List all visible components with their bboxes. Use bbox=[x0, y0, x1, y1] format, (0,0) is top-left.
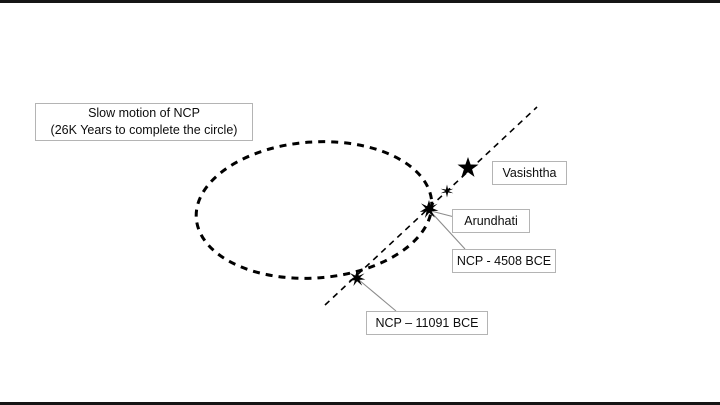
label-ncp-11091-bce: NCP – 11091 BCE bbox=[366, 311, 488, 335]
label-vasishtha-text: Vasishtha bbox=[503, 165, 557, 182]
vasishtha-star-icon bbox=[458, 157, 479, 177]
label-arundhati: Arundhati bbox=[452, 209, 530, 233]
arundhati-star-icon bbox=[441, 185, 454, 198]
precession-circle bbox=[192, 134, 437, 286]
precession-ellipse-group bbox=[192, 134, 437, 286]
label-slow-motion-line2: (26K Years to complete the circle) bbox=[51, 122, 238, 139]
label-ncp-11091-text: NCP – 11091 BCE bbox=[375, 315, 478, 332]
leader-line-ncp-11091 bbox=[359, 280, 396, 311]
label-slow-motion-of-ncp: Slow motion of NCP (26K Years to complet… bbox=[35, 103, 253, 141]
label-vasishtha: Vasishtha bbox=[492, 161, 567, 185]
label-ncp-4508-bce: NCP - 4508 BCE bbox=[452, 249, 556, 273]
label-slow-motion-line1: Slow motion of NCP bbox=[88, 105, 200, 122]
label-arundhati-text: Arundhati bbox=[464, 213, 518, 230]
diagram-graphics bbox=[0, 0, 720, 405]
label-ncp-4508-text: NCP - 4508 BCE bbox=[457, 253, 551, 270]
diagram-canvas: Slow motion of NCP (26K Years to complet… bbox=[0, 0, 720, 405]
